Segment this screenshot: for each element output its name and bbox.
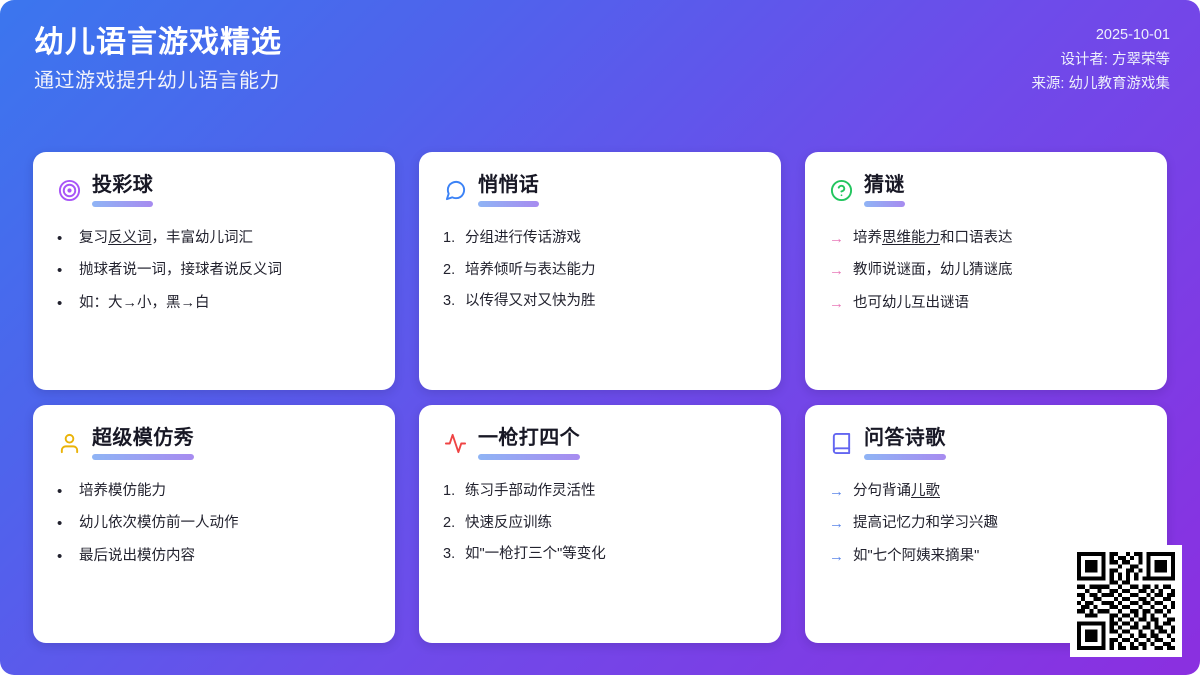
card-title: 问答诗歌	[864, 427, 946, 450]
list-item-text: 培养模仿能力	[79, 482, 166, 502]
list-marker: •	[57, 482, 70, 502]
text-prefix: 分句背诵	[853, 483, 911, 499]
activity-icon	[443, 432, 467, 456]
list-marker: →	[829, 229, 844, 249]
text-highlight: 反义词	[108, 230, 152, 246]
list-marker: 3.	[443, 292, 456, 312]
list-item-text: 教师说谜面，幼儿猜谜底	[853, 261, 1013, 281]
card-title: 超级模仿秀	[92, 427, 194, 450]
list-item: 2.快速反应训练	[443, 508, 759, 540]
card-title-wrap: 超级模仿秀	[92, 427, 194, 460]
list-marker: 1.	[443, 482, 456, 502]
list-item: •培养模仿能力	[57, 476, 373, 508]
list-marker: →	[829, 482, 844, 502]
qr-panel	[1070, 545, 1182, 657]
title-underline	[864, 201, 905, 207]
text-prefix: 培养倾听与表达能力	[465, 262, 596, 278]
text-suffix: 和口语表达	[940, 230, 1013, 246]
list-item: 1.练习手部动作灵活性	[443, 476, 759, 508]
text-prefix: 分组进行传话游戏	[465, 230, 581, 246]
text-prefix: 最后说出模仿内容	[79, 548, 195, 564]
list-item-text: 培养倾听与表达能力	[465, 261, 596, 281]
list-marker: •	[57, 229, 70, 249]
title-underline	[864, 454, 946, 460]
list-item-text: 幼儿依次模仿前一人动作	[79, 514, 239, 534]
text-prefix: 以传得又对又快为胜	[465, 293, 596, 309]
card-title: 悄悄话	[478, 174, 539, 197]
list-marker: •	[57, 514, 70, 534]
game-card[interactable]: 超级模仿秀•培养模仿能力•幼儿依次模仿前一人动作•最后说出模仿内容	[33, 405, 395, 643]
card-header: 投彩球	[57, 174, 373, 207]
list-item: •复习反义词，丰富幼儿词汇	[57, 223, 373, 255]
game-card[interactable]: 猜谜→培养思维能力和口语表达→教师说谜面，幼儿猜谜底→也可幼儿互出谜语	[805, 152, 1167, 390]
list-item-text: 最后说出模仿内容	[79, 547, 195, 567]
qr-code-image[interactable]	[1077, 552, 1175, 650]
text-prefix: 复习	[79, 230, 108, 246]
list-item-text: 分句背诵儿歌	[853, 482, 940, 502]
card-body: 1.分组进行传话游戏2.培养倾听与表达能力3.以传得又对又快为胜	[443, 223, 759, 318]
game-card[interactable]: 一枪打四个1.练习手部动作灵活性2.快速反应训练3.如"一枪打三个"等变化	[419, 405, 781, 643]
list-item: →也可幼儿互出谜语	[829, 288, 1145, 320]
text-prefix: 也可幼儿互出谜语	[853, 295, 969, 311]
help-circle-icon	[829, 179, 853, 203]
list-item: 3.以传得又对又快为胜	[443, 286, 759, 318]
text-suffix: ，丰富幼儿词汇	[152, 230, 254, 246]
list-item: •如：大→小，黑→白	[57, 288, 373, 320]
message-square-icon	[443, 179, 467, 203]
list-marker: •	[57, 547, 70, 567]
header-date: 2025-10-01	[1096, 26, 1170, 46]
text-prefix: 幼儿依次模仿前一人动作	[79, 515, 239, 531]
poster-root: 幼儿语言游戏精选 通过游戏提升幼儿语言能力 2025-10-01 设计者: 方翠…	[0, 0, 1200, 675]
card-title-wrap: 悄悄话	[478, 174, 539, 207]
text-highlight: 思维能力	[882, 230, 940, 246]
list-item-text: 如：大→小，黑→白	[79, 294, 210, 314]
text-prefix: 如"一枪打三个"等变化	[465, 546, 606, 562]
card-body: •复习反义词，丰富幼儿词汇•抛球者说一词，接球者说反义词•如：大→小，黑→白	[57, 223, 373, 320]
card-title-wrap: 一枪打四个	[478, 427, 580, 460]
list-item: →提高记忆力和学习兴趣	[829, 508, 1145, 540]
list-item: 3.如"一枪打三个"等变化	[443, 539, 759, 571]
list-item: →分句背诵儿歌	[829, 476, 1145, 508]
list-item-text: 快速反应训练	[465, 514, 552, 534]
card-header: 猜谜	[829, 174, 1145, 207]
game-card[interactable]: 投彩球•复习反义词，丰富幼儿词汇•抛球者说一词，接球者说反义词•如：大→小，黑→…	[33, 152, 395, 390]
user-icon	[57, 432, 81, 456]
list-item: •幼儿依次模仿前一人动作	[57, 508, 373, 540]
list-item: →教师说谜面，幼儿猜谜底	[829, 255, 1145, 287]
list-marker: •	[57, 294, 70, 314]
list-marker: •	[57, 261, 70, 281]
list-item-text: 练习手部动作灵活性	[465, 482, 596, 502]
header: 幼儿语言游戏精选 通过游戏提升幼儿语言能力 2025-10-01 设计者: 方翠…	[0, 0, 1200, 140]
list-item-text: 如"七个阿姨来摘果"	[853, 547, 979, 567]
card-body: •培养模仿能力•幼儿依次模仿前一人动作•最后说出模仿内容	[57, 476, 373, 573]
list-marker: 2.	[443, 261, 456, 281]
header-title-block: 幼儿语言游戏精选 通过游戏提升幼儿语言能力	[34, 26, 282, 93]
list-marker: →	[829, 514, 844, 534]
list-marker: →	[829, 547, 844, 567]
list-item-text: 分组进行传话游戏	[465, 229, 581, 249]
card-title-wrap: 猜谜	[864, 174, 905, 207]
game-card[interactable]: 悄悄话1.分组进行传话游戏2.培养倾听与表达能力3.以传得又对又快为胜	[419, 152, 781, 390]
list-item-text: 也可幼儿互出谜语	[853, 294, 969, 314]
card-title: 一枪打四个	[478, 427, 580, 450]
list-item-text: 如"一枪打三个"等变化	[465, 545, 606, 565]
page-subtitle: 通过游戏提升幼儿语言能力	[34, 69, 282, 93]
text-prefix: 教师说谜面，幼儿猜谜底	[853, 262, 1013, 278]
card-header: 悄悄话	[443, 174, 759, 207]
header-designer: 设计者: 方翠荣等	[1060, 51, 1170, 71]
list-item-text: 提高记忆力和学习兴趣	[853, 514, 998, 534]
title-underline	[478, 201, 539, 207]
list-marker: 2.	[443, 514, 456, 534]
text-highlight: 儿歌	[911, 483, 940, 499]
card-title: 猜谜	[864, 174, 905, 197]
book-icon	[829, 432, 853, 456]
card-body: 1.练习手部动作灵活性2.快速反应训练3.如"一枪打三个"等变化	[443, 476, 759, 571]
title-underline	[92, 201, 153, 207]
text-prefix: 如"七个阿姨来摘果"	[853, 548, 979, 564]
list-item: 2.培养倾听与表达能力	[443, 255, 759, 287]
card-title-wrap: 投彩球	[92, 174, 153, 207]
list-item-text: 抛球者说一词，接球者说反义词	[79, 261, 282, 281]
list-marker: 1.	[443, 229, 456, 249]
header-meta: 2025-10-01 设计者: 方翠荣等 来源: 幼儿教育游戏集	[1031, 26, 1170, 95]
text-prefix: 练习手部动作灵活性	[465, 483, 596, 499]
card-title-wrap: 问答诗歌	[864, 427, 946, 460]
text-prefix: 快速反应训练	[465, 515, 552, 531]
list-item: →培养思维能力和口语表达	[829, 223, 1145, 255]
text-prefix: 培养模仿能力	[79, 483, 166, 499]
text-prefix: 提高记忆力和学习兴趣	[853, 515, 998, 531]
header-source: 来源: 幼儿教育游戏集	[1031, 75, 1170, 95]
list-item-text: 复习反义词，丰富幼儿词汇	[79, 229, 253, 249]
list-marker: 3.	[443, 545, 456, 565]
list-marker: →	[829, 261, 844, 281]
text-prefix: 培养	[853, 230, 882, 246]
card-header: 问答诗歌	[829, 427, 1145, 460]
list-item: 1.分组进行传话游戏	[443, 223, 759, 255]
list-marker: →	[829, 294, 844, 314]
text-prefix: 如：大→小，黑→白	[79, 295, 210, 311]
card-header: 一枪打四个	[443, 427, 759, 460]
cards-grid: 投彩球•复习反义词，丰富幼儿词汇•抛球者说一词，接球者说反义词•如：大→小，黑→…	[33, 152, 1167, 643]
page-title: 幼儿语言游戏精选	[34, 26, 282, 61]
list-item-text: 培养思维能力和口语表达	[853, 229, 1013, 249]
list-item: •最后说出模仿内容	[57, 541, 373, 573]
card-title: 投彩球	[92, 174, 153, 197]
target-icon	[57, 179, 81, 203]
text-prefix: 抛球者说一词，接球者说反义词	[79, 262, 282, 278]
list-item: •抛球者说一词，接球者说反义词	[57, 255, 373, 287]
title-underline	[478, 454, 580, 460]
title-underline	[92, 454, 194, 460]
card-header: 超级模仿秀	[57, 427, 373, 460]
card-body: →培养思维能力和口语表达→教师说谜面，幼儿猜谜底→也可幼儿互出谜语	[829, 223, 1145, 320]
list-item-text: 以传得又对又快为胜	[465, 292, 596, 312]
